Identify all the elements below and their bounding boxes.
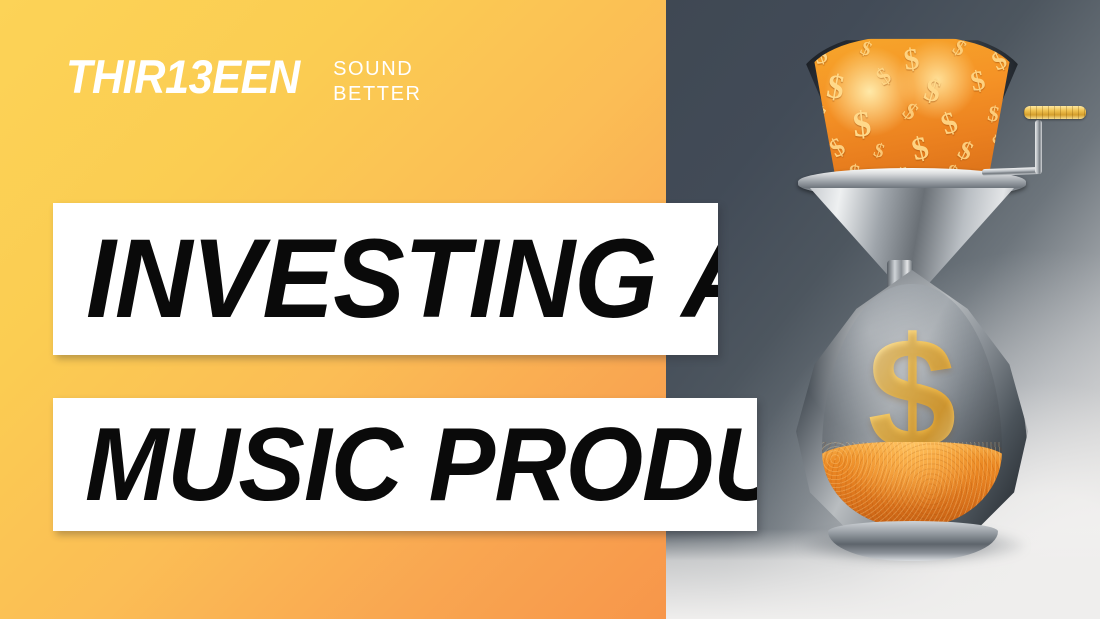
dollar-sign-icon: $ bbox=[949, 36, 970, 60]
dollar-sign-icon: $ bbox=[954, 137, 977, 166]
dollar-sign-icon: $ bbox=[902, 44, 921, 76]
brand-logo[interactable]: THIR13EEN SOUND BETTER bbox=[66, 52, 422, 107]
crank-arm-horizontal-icon bbox=[982, 167, 1042, 176]
dollar-sign-icon: $ bbox=[988, 46, 1011, 75]
sand-pile bbox=[822, 442, 1002, 528]
brand-logo-wordmark: THIR13EEN bbox=[66, 52, 300, 102]
headline-line-2: MUSIC PRODUCER bbox=[85, 413, 757, 517]
dollar-sign-icon: $ bbox=[806, 102, 830, 133]
dollar-sign-coins: $$$$$$$$$$$$$$$$$$$$$$ bbox=[806, 36, 1018, 182]
dollar-sign-icon: $ bbox=[897, 99, 921, 125]
hourglass-top-chamber: $$$$$$$$$$$$$$$$$$$$$$ bbox=[796, 30, 1028, 226]
dollar-sign-icon: $ bbox=[872, 64, 895, 91]
hourglass-bottom-chamber: $ bbox=[796, 270, 1028, 548]
brand-tagline: SOUND BETTER bbox=[333, 52, 422, 107]
headline-band-2: MUSIC PRODUCER bbox=[53, 398, 757, 531]
dollar-sign-icon: $ bbox=[921, 72, 945, 107]
headline-band-1: INVESTING AS A bbox=[53, 203, 718, 355]
dollar-sign-icon: $ bbox=[989, 131, 1007, 156]
bottom-chamber-glass: $ bbox=[822, 284, 1002, 528]
dollar-sign-icon: $ bbox=[826, 134, 850, 163]
poster-canvas: $$$$$$$$$$$$$$$$$$$$$$ $ bbox=[0, 0, 1100, 619]
headline-line-1: INVESTING AS A bbox=[86, 223, 718, 335]
dollar-sign-icon: $ bbox=[969, 67, 989, 97]
dollar-sign-icon: $ bbox=[986, 102, 1001, 126]
dollar-sign-icon: $ bbox=[824, 70, 847, 106]
dollar-sign-icon: $ bbox=[908, 131, 931, 166]
crank-arm-vertical-icon bbox=[1035, 120, 1042, 174]
hourglass-illustration: $$$$$$$$$$$$$$$$$$$$$$ $ bbox=[784, 22, 1042, 567]
brand-tagline-line-1: SOUND bbox=[333, 57, 422, 82]
dollar-sign-icon: $ bbox=[871, 140, 887, 162]
dollar-sign-icon: $ bbox=[857, 38, 874, 60]
brand-tagline-line-2: BETTER bbox=[333, 82, 422, 107]
dollar-sign-icon: $ bbox=[851, 105, 873, 143]
grinder-crank-handle-icon bbox=[1024, 106, 1086, 119]
dollar-sign-icon: $ bbox=[937, 107, 961, 140]
